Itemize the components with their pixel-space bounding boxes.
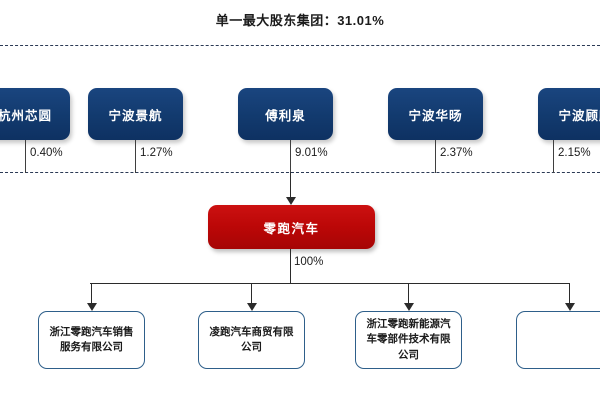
core-company-label: 零跑汽车 (263, 218, 319, 237)
group-boundary-bottom-divider (0, 172, 600, 173)
connector-stem-1 (25, 140, 26, 173)
shareholder-box-1[interactable]: 杭州芯圆 (0, 88, 70, 140)
page-title: 单一最大股东集团：31.01% (0, 10, 600, 29)
subsidiary-label-3-line-3: 公司 (367, 348, 451, 363)
subsidiary-box-1[interactable]: 浙江零跑汽车销售 服务有限公司 (38, 311, 145, 369)
subsidiary-label-3-line-2: 车零部件技术有限 (367, 332, 451, 347)
shareholder-label-1: 杭州芯圆 (0, 105, 52, 124)
subsidiary-box-3[interactable]: 浙江零跑新能源汽 车零部件技术有限 公司 (355, 311, 462, 369)
group-boundary-top-divider (0, 45, 600, 46)
subsidiary-label-1-line-2: 服务有限公司 (50, 340, 134, 355)
subsidiary-label-3-line-1: 浙江零跑新能源汽 (367, 317, 451, 332)
arrow-down-icon-sub-1 (87, 303, 97, 311)
shareholder-label-5: 宁波顾麟 (558, 105, 600, 124)
subsidiary-stem-1 (91, 283, 92, 305)
shareholder-box-3[interactable]: 傅利泉 (238, 88, 333, 140)
subsidiary-box-2[interactable]: 凌跑汽车商贸有限 公司 (198, 311, 305, 369)
connector-stem-5 (553, 140, 554, 173)
subsidiary-distributor-line (90, 283, 570, 284)
connector-stem-2 (135, 140, 136, 173)
arrow-down-icon-sub-2 (247, 303, 257, 311)
connector-stem-4 (435, 140, 436, 173)
ownership-pct-4: 2.37% (440, 147, 473, 159)
arrow-down-icon-sub-3 (404, 303, 414, 311)
shareholder-label-4: 宁波华旸 (408, 105, 462, 124)
arrow-down-icon-core (286, 197, 296, 205)
connector-stem-3 (290, 140, 291, 173)
shareholder-box-5[interactable]: 宁波顾麟 (538, 88, 600, 140)
subsidiary-stem-2 (251, 283, 252, 305)
shareholder-box-4[interactable]: 宁波华旸 (388, 88, 483, 140)
subsidiary-label-2-line-2: 公司 (210, 340, 294, 355)
ownership-pct-2: 1.27% (140, 147, 173, 159)
subsidiary-stem-4 (569, 283, 570, 305)
shareholder-box-2[interactable]: 宁波景航 (88, 88, 183, 140)
core-company-box[interactable]: 零跑汽车 (208, 205, 375, 249)
shareholder-label-2: 宁波景航 (108, 105, 162, 124)
subsidiary-label-1-line-1: 浙江零跑汽车销售 (50, 325, 134, 340)
shareholder-label-3: 傅利泉 (265, 105, 306, 124)
core-ownership-pct: 100% (294, 256, 323, 268)
subsidiary-stem-3 (408, 283, 409, 305)
core-inbound-connector (290, 172, 291, 199)
subsidiary-box-4[interactable] (516, 311, 600, 369)
arrow-down-icon-sub-4 (565, 303, 575, 311)
ownership-pct-1: 0.40% (30, 147, 63, 159)
ownership-structure-chart: 单一最大股东集团：31.01% 杭州芯圆 宁波景航 傅利泉 宁波华旸 宁波顾麟 … (0, 0, 600, 400)
subsidiary-label-2-line-1: 凌跑汽车商贸有限 (210, 325, 294, 340)
core-outbound-connector (290, 249, 291, 283)
ownership-pct-3: 9.01% (295, 147, 328, 159)
ownership-pct-5: 2.15% (558, 147, 591, 159)
